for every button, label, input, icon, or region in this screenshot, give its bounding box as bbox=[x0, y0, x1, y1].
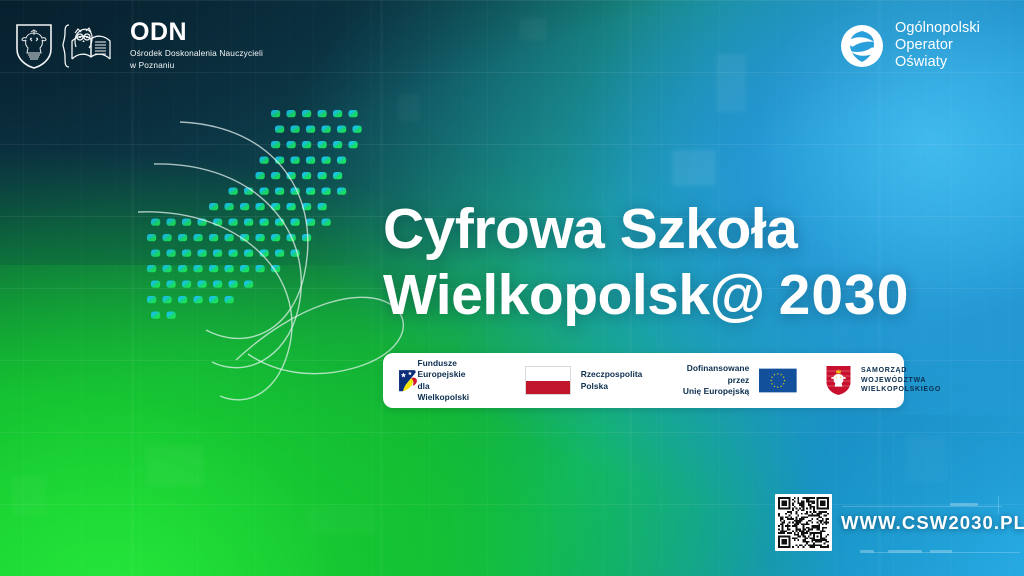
headline: Cyfrowa Szkoła Wielkopolsk@2030 bbox=[383, 196, 983, 328]
headline-line1: Cyfrowa Szkoła bbox=[383, 196, 983, 262]
odn-subtitle: Ośrodek Doskonalenia Nauczycieli w Pozna… bbox=[130, 48, 263, 71]
qr-code-matrix bbox=[778, 497, 829, 548]
eu-funding-bar: Fundusze Europejskie dla Wielkopolski Rz… bbox=[383, 353, 904, 408]
funding-label-rzeczpospolita-polska: Rzeczpospolita Polska bbox=[581, 369, 643, 392]
owl-open-book-icon bbox=[62, 21, 120, 71]
poznan-coat-of-arms-shield-icon bbox=[14, 22, 54, 70]
website-url[interactable]: WWW.CSW2030.PL bbox=[841, 512, 1024, 534]
logo-ogolnopolski-operator-oswiaty: Ogólnopolski Operator Oświaty bbox=[840, 20, 980, 71]
funding-label-fundusze-europejskie: Fundusze Europejskie dla Wielkopolski bbox=[417, 358, 478, 404]
headline-line2: Wielkopolsk@2030 bbox=[383, 262, 983, 328]
poland-flag-icon bbox=[525, 366, 571, 395]
operator-line1: Ogólnopolski bbox=[895, 20, 980, 37]
banner-root: class Node { constructor(v){ this.v=v; }… bbox=[0, 0, 1024, 576]
funding-item-fundusze-europejskie: Fundusze Europejskie dla Wielkopolski bbox=[397, 358, 479, 404]
headline-line2-text: Wielkopolsk@ bbox=[383, 263, 765, 327]
fundusze-europejskie-stars-icon bbox=[397, 363, 417, 399]
funding-label-dofinansowane-ue: Dofinansowane przez Unię Europejską bbox=[678, 363, 749, 397]
headline-year: 2030 bbox=[779, 263, 910, 327]
eu-flag-icon bbox=[759, 366, 797, 395]
odn-subtitle-line1: Ośrodek Doskonalenia Nauczycieli bbox=[130, 48, 263, 58]
logo-odn: ODN Ośrodek Doskonalenia Nauczycieli w P… bbox=[14, 20, 263, 71]
operator-line3: Oświaty bbox=[895, 54, 980, 71]
odn-subtitle-line2: w Poznaniu bbox=[130, 60, 174, 70]
funding-item-dofinansowane-ue: Dofinansowane przez Unię Europejską bbox=[678, 363, 797, 397]
operator-line2: Operator bbox=[895, 37, 980, 54]
wielkopolska-crest-icon bbox=[825, 365, 852, 396]
odn-title: ODN bbox=[130, 20, 263, 45]
funding-item-rzeczpospolita-polska: Rzeczpospolita Polska bbox=[525, 366, 643, 395]
qr-code-icon[interactable] bbox=[775, 494, 832, 551]
odn-text-block: ODN Ośrodek Doskonalenia Nauczycieli w P… bbox=[130, 20, 263, 71]
funding-item-samorzad-wielkopolski: SAMORZĄD WOJEWÓDZTWA WIELKOPOLSKIEGO bbox=[825, 365, 941, 396]
funding-label-samorzad-wielkopolski: SAMORZĄD WOJEWÓDZTWA WIELKOPOLSKIEGO bbox=[861, 366, 941, 394]
operator-text-block: Ogólnopolski Operator Oświaty bbox=[895, 20, 980, 71]
circle-shield-swoosh-icon bbox=[840, 24, 884, 68]
